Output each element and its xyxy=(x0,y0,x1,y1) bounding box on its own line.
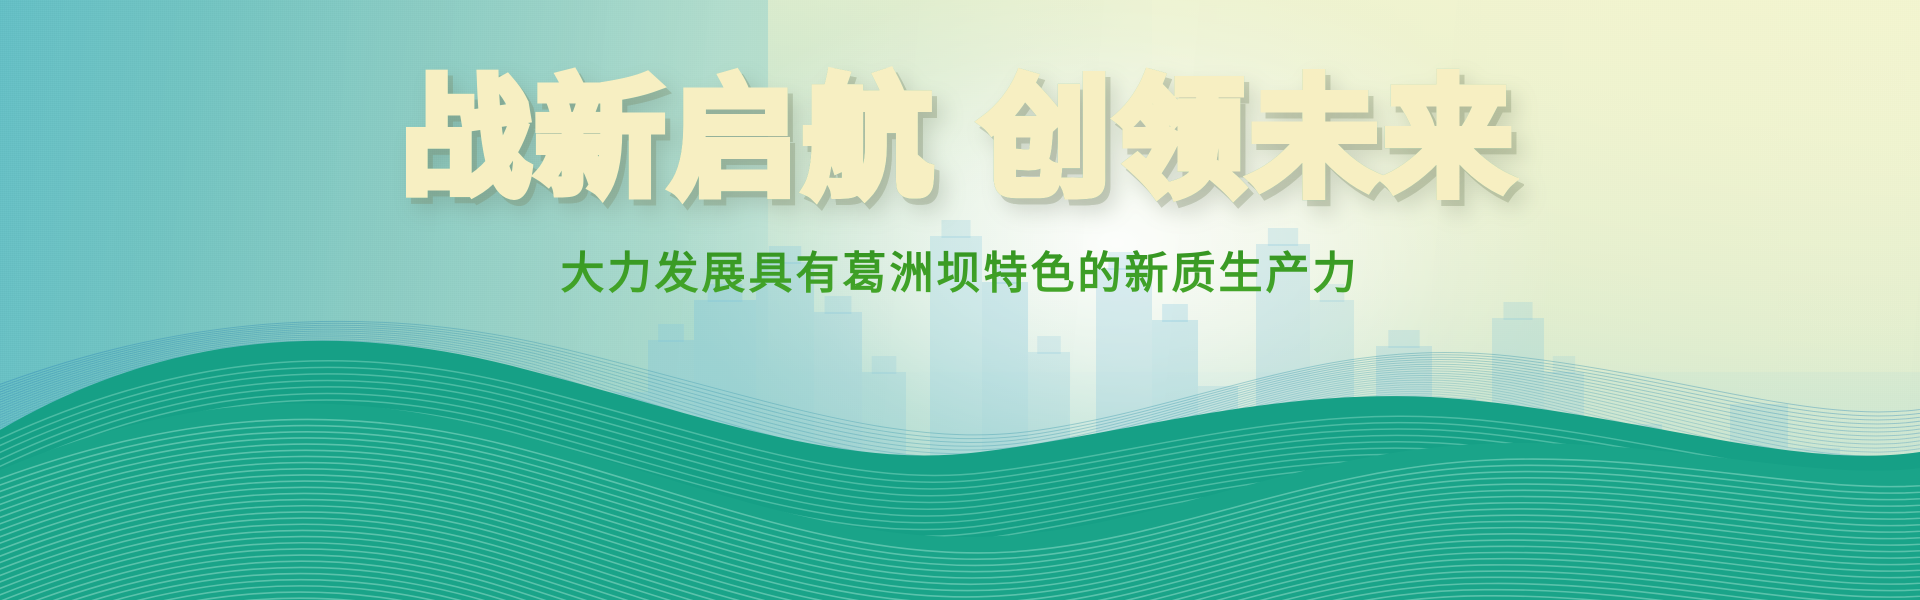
wave-decoration-layer xyxy=(0,0,1920,600)
promo-banner: 战新启航创领未来 大力发展具有葛洲坝特色的新质生产力 xyxy=(0,0,1920,600)
